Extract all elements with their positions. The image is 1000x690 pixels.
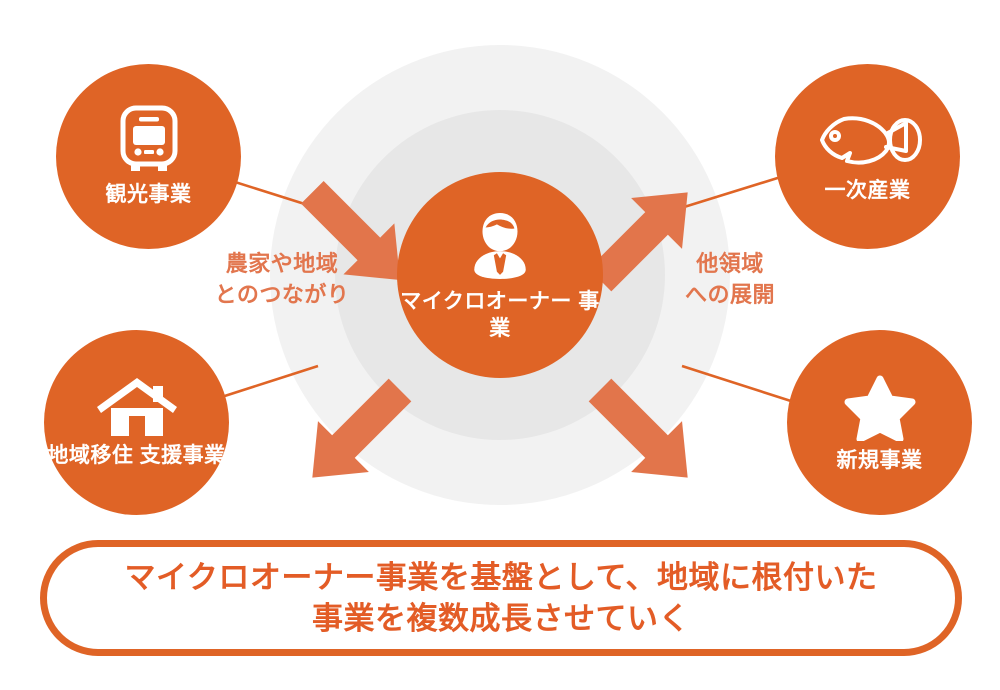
node-primary-industry[interactable]: 一次産業	[775, 64, 960, 249]
summary-banner: マイクロオーナー事業を基盤として、地域に根付いた 事業を複数成長させていく	[40, 540, 962, 656]
person-avatar-icon	[467, 211, 533, 281]
summary-banner-text: マイクロオーナー事業を基盤として、地域に根付いた 事業を複数成長させていく	[125, 557, 878, 639]
star-icon	[843, 371, 917, 441]
node-migration-support[interactable]: 地域移住 支援事業	[44, 330, 229, 515]
center-node-micro-owner[interactable]: マイクロオーナー 事業	[397, 172, 603, 378]
node-migration-support-label: 地域移住 支援事業	[47, 443, 225, 468]
center-node-label: マイクロオーナー 事業	[397, 289, 603, 342]
node-new-business[interactable]: 新規事業	[787, 330, 972, 515]
diagram-canvas: マイクロオーナー 事業 観光事業 一次産業	[0, 0, 1000, 690]
arrow-down-right	[575, 365, 714, 504]
node-new-business-label: 新規事業	[837, 448, 923, 473]
node-tourism[interactable]: 観光事業	[56, 64, 241, 249]
node-tourism-label: 観光事業	[106, 182, 192, 207]
caption-left: 農家や地域 とのつながり	[196, 248, 368, 310]
caption-right: 他領域 への展開	[660, 248, 800, 310]
fish-icon	[814, 109, 922, 171]
node-primary-industry-label: 一次産業	[825, 178, 911, 203]
arrow-down-left	[287, 365, 426, 504]
bus-icon	[118, 105, 180, 175]
house-icon	[95, 376, 179, 436]
